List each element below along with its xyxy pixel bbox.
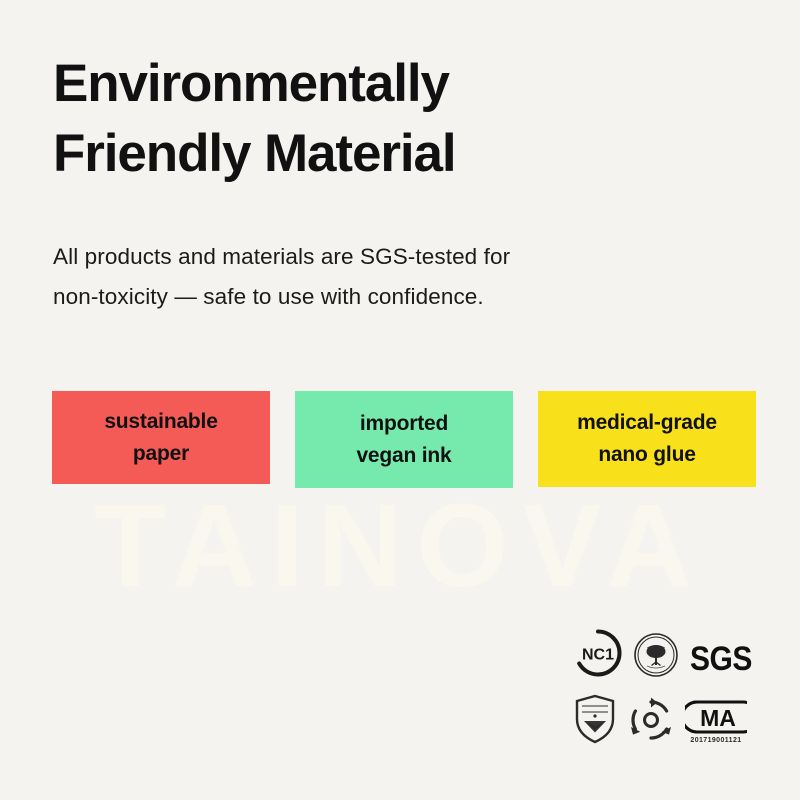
brand-watermark: TAINOVA xyxy=(0,487,800,605)
page-title-line-2: Friendly Material xyxy=(53,119,693,189)
material-tag-sustainable-paper: sustainable paper xyxy=(52,391,270,484)
material-tag-line-1: imported xyxy=(360,408,448,440)
page-subtitle-line-2: non-toxicity — safe to use with confiden… xyxy=(53,277,653,317)
recycle-badge-icon xyxy=(627,696,675,744)
page-subtitle: All products and materials are SGS-teste… xyxy=(53,237,653,317)
material-tag-line-2: vegan ink xyxy=(356,440,451,472)
svg-text:NC1: NC1 xyxy=(582,647,614,664)
material-tag-line-2: paper xyxy=(133,438,189,470)
material-tag-line-2: nano glue xyxy=(598,439,695,471)
material-tag-imported-vegan-ink: imported vegan ink xyxy=(295,391,513,488)
certification-badge-row-bottom: MA 201719001121 xyxy=(573,682,773,744)
material-tag-row: sustainable paper imported vegan ink med… xyxy=(52,391,756,488)
page-subtitle-line-1: All products and materials are SGS-teste… xyxy=(53,237,653,277)
material-tag-line-1: medical-grade xyxy=(577,407,717,439)
cma-badge-icon: MA 201719001121 xyxy=(685,698,747,744)
page-title-line-1: Environmentally xyxy=(53,49,693,119)
svg-text:SGS: SGS xyxy=(690,640,752,678)
material-tag-medical-grade-nano-glue: medical-grade nano glue xyxy=(538,391,756,487)
page-title: Environmentally Friendly Material xyxy=(53,49,693,189)
material-tag-line-1: sustainable xyxy=(104,406,217,438)
svg-text:MA: MA xyxy=(700,705,736,731)
forest-seal-badge-icon xyxy=(633,632,679,678)
certification-badges: NC1 SGS xyxy=(573,622,773,744)
certification-badge-row-top: NC1 SGS xyxy=(573,622,773,678)
sgs-badge-icon: SGS xyxy=(689,638,753,678)
shield-badge-icon xyxy=(573,694,617,744)
cma-certificate-number: 201719001121 xyxy=(690,737,741,744)
nc1-badge-icon: NC1 xyxy=(573,628,623,678)
